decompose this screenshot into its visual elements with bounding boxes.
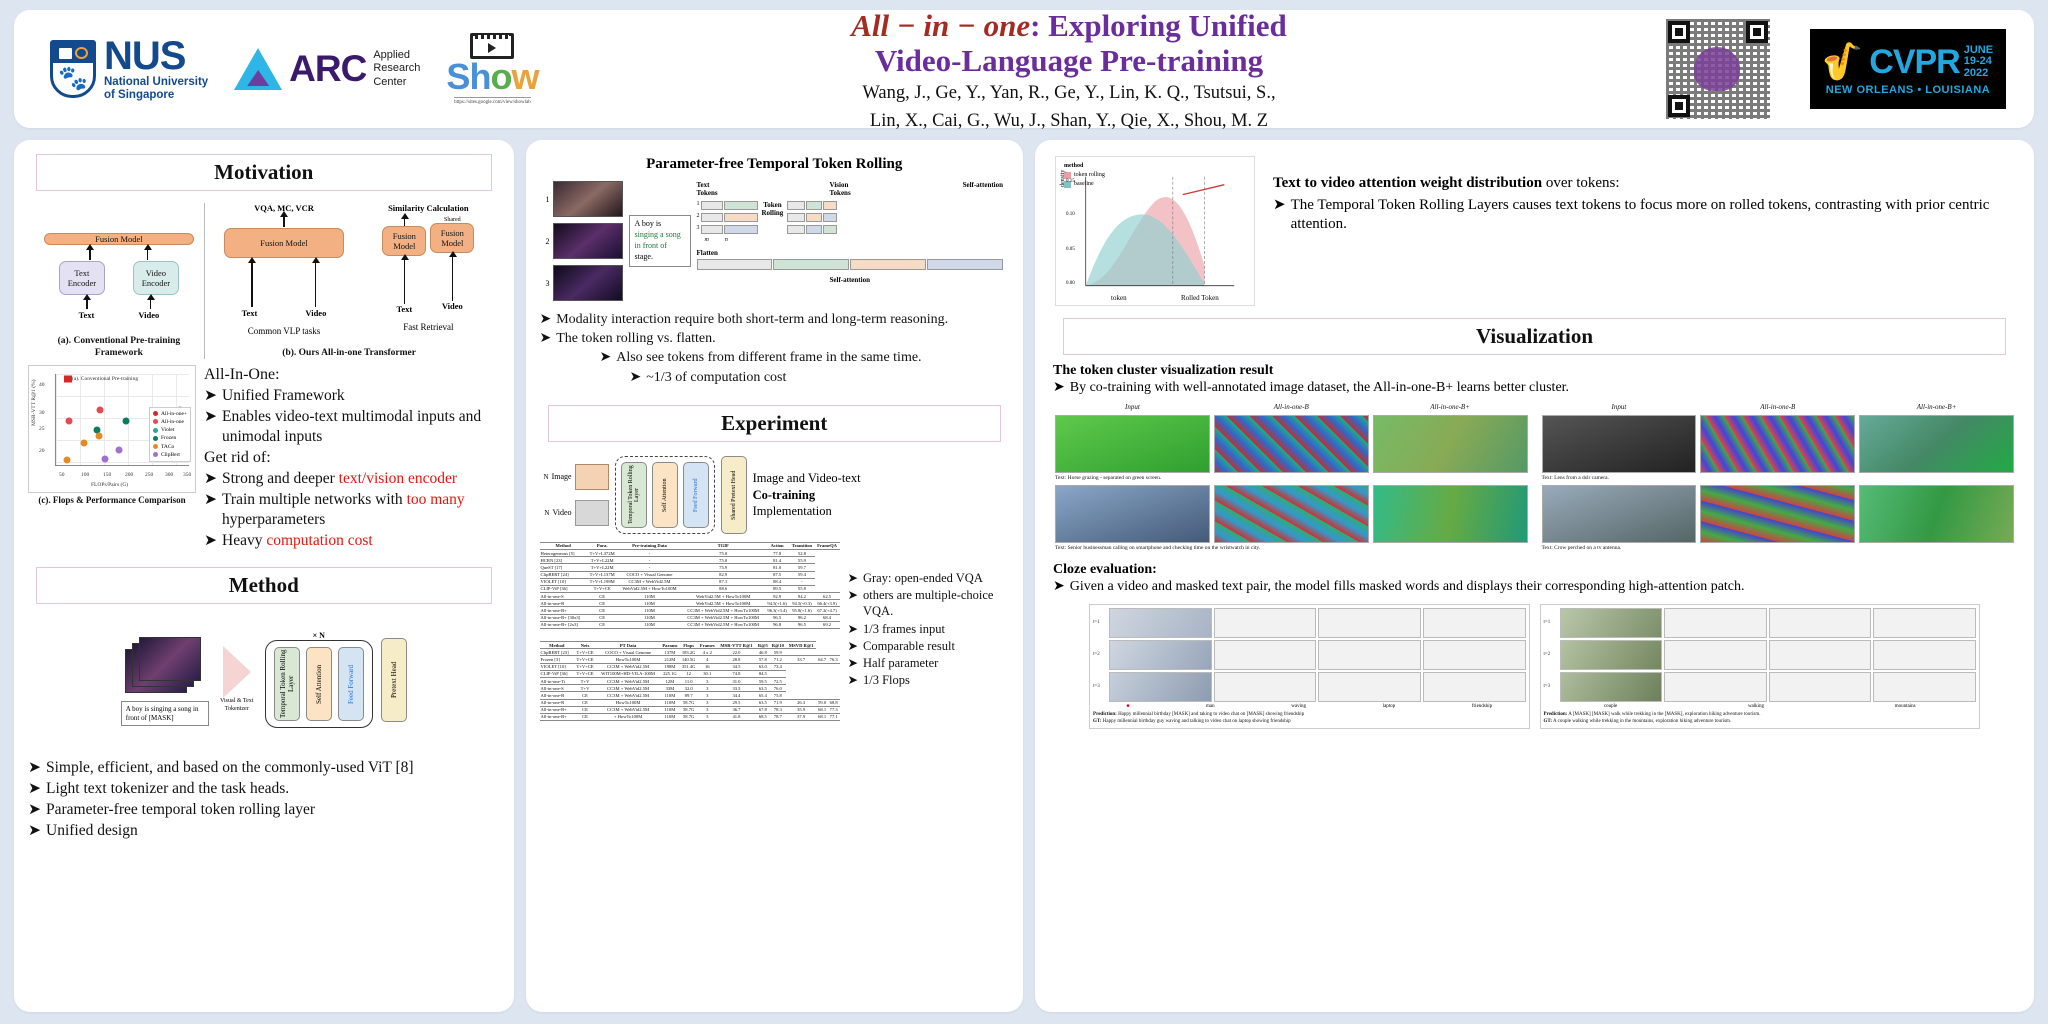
table-cell: 59.9 [770,649,786,656]
motivation-chart-and-bullets: (a). Conventional Pre-training All-in-on… [28,365,500,553]
cvpr-location: NEW ORLEANS • LOUISIANA [1826,84,1990,96]
visualization-bullet: By co-training with well-annotated image… [1070,379,1569,397]
table-cell: 75.8 [770,692,786,699]
table-cell: 77.1 [828,713,840,720]
table-cell: 87.5 [765,571,789,578]
table-row: All-in-one-BCEHowTo100M110M58.7G329.563.… [540,699,840,706]
rolling-bullet-2: The token rolling vs. flatten. [556,330,715,348]
table-cell: 58.7G [680,713,698,720]
arc-logo: ARC Applied Research Center [234,48,420,90]
t2-h2: PT Data [596,642,660,649]
fig-a-caption-1: (a). Conventional Pre-training [58,336,181,347]
table-cell: 351.4G [680,663,698,670]
t2-h0: Method [540,642,575,649]
exp-bullet-3: 1/3 frames input [863,621,945,637]
table-cell: 87.1 [681,578,765,585]
exp-self-attention: Self Attention [652,462,678,528]
column-middle: Parameter-free Temporal Token Rolling 1 … [526,140,1024,1012]
table-row: CLIP-ViP [36]T+V+CEWIT100M+HD-VILA-100M2… [540,670,840,677]
show-letter-w: w [511,56,538,97]
table-cell: CE [574,699,596,706]
exp-shared-head: Shared Pretext Head [721,456,747,534]
table-cell: T+V [574,677,596,684]
qr-code[interactable] [1666,19,1770,119]
chart-ylabel: MSR-VTT R@1 (%) [31,379,37,426]
poster-title: All − in − one: Exploring Unified [584,9,1554,44]
attention-text-block: Text to video attention weight distribut… [1273,156,2014,306]
table-cell: ClipBERT [24] [540,571,587,578]
table-row: All-in-one-SCE110MWebVid2.5M + HowTo100M… [540,593,840,600]
showlab-logo: Show https://sites.google.com/view/showl… [446,33,538,105]
cloze-left-pred-text: Happy millennial birthday [MASK] and tak… [1118,712,1304,717]
rolling-caption-end: stage. [635,252,685,263]
table-cell: - [618,564,682,571]
table-cell: 4 [698,656,717,663]
chart-caption: (c). Flops & Performance Comparison [28,495,196,506]
fig-a-caption-2: Framework [95,348,143,359]
cluster-img-r1c5 [1700,415,1855,473]
cluster-img-r2c4 [1542,485,1697,543]
table-cell: 68.1 [816,713,828,720]
cloze-right-token-3: mountains [1895,704,1916,709]
method-bullets: ➤Simple, efficient, and based on the com… [28,758,500,842]
cloze-right-pred-text: A [MASK] [MASK] walk while trekking in t… [1568,712,1760,717]
table-cell: 55.9 [789,557,814,564]
arc-sub-line2: Research [373,62,420,75]
table-cell: 4 x 2 [698,649,717,656]
table-cell: 225.1G [660,670,680,677]
t2-h8: R@10 [770,642,786,649]
table-cell: 110M [660,706,680,713]
table-cell: 58.7G [680,699,698,706]
arc-sub-line1: Applied [373,49,420,62]
section-title-experiment: Experiment [548,405,1002,442]
cloze-left-token-2: waving [1291,704,1306,709]
table-cell: Heterogeneous [5] [540,549,587,556]
point-clipbert-2 [115,447,122,454]
table-cell: VIOLET [10] [540,663,575,670]
table-cell: 89.7 [680,692,698,699]
table-cell: 62.5 [815,593,840,600]
rolling-bullet-1: Modality interaction require both short-… [556,311,948,329]
cluster-col-header-2: All-in-one-B+ [1373,403,1528,411]
token-rolling-label: Token Rolling [762,201,784,217]
table-cell: CE [574,713,596,720]
density-xlabel-left: token [1111,294,1127,302]
exp-rolling-layer: Temporal Token Rolling Layer [621,462,647,528]
experiment-tables-and-bullets: Method Para. Pre-training Data TGIF Acti… [540,542,1010,721]
flops-chart-container: (a). Conventional Pre-training All-in-on… [28,365,196,553]
poster-header: 🐾 NUS National University of Singapore A… [14,10,2034,128]
table-cell: CC3M + WebVid2.5M [596,706,660,713]
row-label-2: 2 [697,213,700,222]
t1-h3: TGIF [681,542,765,549]
table-cell: T+V+CE [574,663,596,670]
frame-index-2: 2 [546,237,550,246]
table-cell: ClipBERT [23] [540,649,575,656]
nus-name-line1: National University [104,76,208,89]
table-cell: All-in-one-Ti [540,677,575,684]
table-cell: 11.0 [680,677,698,684]
table-cell: 67.8 [756,706,770,713]
motivation-heading-2: Get rid of: [204,448,500,469]
table-cell: CE [574,706,596,713]
table-cell: 77.8 [765,549,789,556]
motivation-figure: Fusion Model Text Encoder Video Encoder … [28,199,500,359]
title-italic-part: All − in − one [851,8,1030,43]
github-cat-icon [1694,47,1740,91]
section-title-visualization: Visualization [1063,318,2006,355]
motivation-bullet-2: Enables video-text multimodal inputs and… [222,407,500,447]
table-cell: 33M [660,685,680,692]
table-cell: All-in-one-S [540,685,575,692]
t2-h4: Flops [680,642,698,649]
table-cell: 31.0 [717,677,756,684]
exp-figure-caption: Image and Video-text Co-training Impleme… [753,470,861,519]
table-cell: 82.9 [681,571,765,578]
attention-section: method token rolling baseline density [1049,152,2020,310]
table-cell: 58.7G [680,706,698,713]
visualization-bullet-row: ➤By co-training with well-annotated imag… [1049,379,2020,397]
cloze-row-label-2: t=2 [1093,652,1107,657]
fig-a-video-encoder: Video Encoder [133,261,179,295]
table-cell: 52.8 [789,549,814,556]
legend-violet: Violet [161,426,174,434]
experiment-tables: Method Para. Pre-training Data TGIF Acti… [540,542,840,721]
table-cell: 36.7 [717,706,756,713]
cloze-right-token-2: walking [1748,704,1764,709]
table-cell: 89.5 [765,585,789,592]
table-cell: 41.8 [717,713,756,720]
table-cell: QueST [17] [540,564,587,571]
point-clipbert-1 [102,455,109,462]
logo-group: 🐾 NUS National University of Singapore A… [14,33,574,105]
table-cell: 68.5 [756,713,770,720]
table-cell: 26.3 [786,699,816,706]
method-self-attention: Self Attention [306,647,332,721]
table-cell: 68.8 [828,699,840,706]
table-cell: 30.1 [698,670,717,677]
fig-a-text-label: Text [79,310,95,320]
table-row: VIOLET [10]T+V+L198MCC3M + WebVid2.5M87.… [540,578,840,585]
method-bullet-1: Simple, efficient, and based on the comm… [46,758,414,778]
cluster-img-r2c5 [1700,485,1855,543]
table-cell: All-in-one-B+ [2x3] [540,621,587,628]
chart-legend: All-in-one+ All-in-one Violet Frozen TAC… [149,407,191,463]
table-cell: All-in-one-B+ [540,713,575,720]
cloze-right-pred-label: Prediction: [1544,712,1568,717]
table-cell: 110M [618,621,682,628]
rolling-caption-box: A boy is singing a song in front of stag… [629,181,691,301]
cloze-right-gt-text: A couple walking while trekking in the m… [1553,719,1731,724]
table-cell: 94.2 [789,593,814,600]
table-cell: WebVid2.5M + HowTo100M [681,600,765,607]
table-cell: CE [587,621,618,628]
table-cell: 3 [698,706,717,713]
header-right-group: 🎷 CVPR JUNE 19-24 2022 NEW ORLEANS • LOU… [1564,19,2034,119]
table-cell: 110M [618,607,682,614]
show-letter-h: h [469,56,490,97]
t2-h1: Nets [574,642,596,649]
table-row: ClipBERT [24]T+V+L137MCOCO + Visual Geno… [540,571,840,578]
method-transformer-block: Temporal Token Rolling Layer Self Attent… [265,640,373,728]
table-cell: All-in-one-S [540,593,587,600]
table-cell: 75.9 [681,564,765,571]
t2-h5: Frames [698,642,717,649]
b4-red: too many [407,491,465,508]
table-cell: 37.9 [786,713,816,720]
cloze-heading: Cloze evaluation: [1049,562,2020,578]
legend-all-in-one-plus: All-in-one+ [161,410,187,418]
row-label-1: 1 [697,201,700,210]
show-letter-o: o [490,56,511,97]
cluster-caption-1: Text: Horse grazing - separated on green… [1055,475,1528,482]
cluster-group-right: Input All-in-one-B All-in-one-B+ Text: L… [1542,403,2015,553]
density-ytick-1: 0.05 [1066,247,1075,252]
cluster-img-r2c2 [1214,485,1369,543]
method-xn-label: × N [313,631,325,640]
table-cell: 110M [660,692,680,699]
table-cell: 74.8 [717,670,756,677]
table-cell: 63.5 [756,699,770,706]
attention-heading-rest: over tokens: [1542,175,1619,191]
table-cell: 95.8(+1.6) [789,607,814,614]
b5-pre: Heavy [222,532,266,549]
table-cell: CE [587,607,618,614]
flatten-label: Flatten [697,249,718,257]
table-row: All-in-one-BCE110MWebVid2.5M + HowTo100M… [540,600,840,607]
table-cell: 12M [660,677,680,684]
exp-caption-1: Image and Video-text [753,470,861,486]
density-ytick-3: 0.15 [1066,179,1075,184]
experiment-bullets: ➤Gray: open-ended VQA ➤others are multip… [848,542,1010,721]
motivation-bullet-4: Train multiple networks with too many hy… [222,490,500,530]
method-pretext-head: Pretext Head [381,638,407,722]
table-cell: All-in-one-B+ [540,706,575,713]
table-cell: 59.4 [789,571,814,578]
motivation-bullet-1: Unified Framework [222,386,345,406]
row-label-3: 3 [697,225,700,234]
nus-shield-icon: 🐾 [50,40,96,98]
table-cell: 34.4 [717,692,756,699]
method-bullet-3: Parameter-free temporal token rolling la… [46,800,315,820]
cloze-left-pred-label: Prediction: [1093,712,1117,717]
cloze-right-token-1: couple [1604,704,1617,709]
table-cell: T+V+L137M [587,571,618,578]
cloze-row-label-1b: t=1 [1544,620,1558,625]
density-ytick-0: 0.00 [1066,281,1075,286]
table-cell: T+V+L22M [587,564,618,571]
table-cell: T+V [574,685,596,692]
cloze-left-gt-label: GT: [1093,719,1102,724]
nus-name-line2: of Singapore [104,89,208,102]
table-row: All-in-one-B+CECC3M + WebVid2.5M110M58.7… [540,706,840,713]
table-cell: 29.5 [717,699,756,706]
table-cell: 32.0 [680,685,698,692]
cluster-caption-4: Text: Crow perched on a tv antenna. [1542,545,2015,552]
figure-b-panel: VQA, MC, VCR Fusion Model Text Video Com… [204,203,494,359]
cvpr-word: CVPR [1869,43,1959,82]
table-row: HCRN [23]T+V+L22M-75.081.455.9 [540,557,840,564]
show-letter-s: S [446,56,469,97]
table-cell: - [618,549,682,556]
table-cell: T+V+CE [574,656,596,663]
section-title-motivation: Motivation [36,154,492,191]
legend-frozen: Frozen [161,434,176,442]
table-row: All-in-one-TiT+VCC3M + WebVid2.5M12M11.0… [540,677,840,684]
exp-bullet-2: others are multiple-choice VQA. [863,587,1009,620]
exp-image-label: Image [552,472,572,481]
point-taco-1 [63,457,70,464]
table-cell: 59.7 [789,564,814,571]
fig-b-video-label-2: Video [442,301,463,311]
cvpr-badge: 🎷 CVPR JUNE 19-24 2022 NEW ORLEANS • LOU… [1810,29,2006,109]
table-cell: HCRN [23] [540,557,587,564]
table-cell: 12 [680,670,698,677]
fig-b-text-label-2: Text [396,304,412,314]
cluster-img-r2c3 [1373,485,1528,543]
table-cell: 77.3 [828,706,840,713]
show-url: https://sites.google.com/view/showlab [454,97,531,105]
table-cell: 33.7 [786,656,816,663]
t1-h1: Para. [587,542,618,549]
motivation-heading-1: All-In-One: [204,365,500,386]
legend-taco: TACo [161,443,174,451]
cluster-col-header-1: All-in-one-B [1214,403,1369,411]
attention-bullet: The Temporal Token Rolling Layers causes… [1291,196,2014,235]
rolling-caption-mid: singing a song [635,230,685,241]
table-cell: COCO + Visual Genome [596,649,660,656]
t1-h2: Pre-training Data [618,542,682,549]
column-left: Motivation Fusion Model Text Encoder Vid… [14,140,514,1012]
table-cell: WIT100M+HD-VILA-100M [596,670,660,677]
t2-h9: MSVD R@1 [786,642,816,649]
table-cell: 212M [660,656,680,663]
table-cell: CE [574,692,596,699]
exp-n-label-2: N [544,509,549,517]
table-cell: CC3M + WebVid2.5M [596,685,660,692]
table-cell: T+V+L198M [587,578,618,585]
table-cell: 110M [618,593,682,600]
table-cell: 73.4 [770,663,786,670]
saxophone-icon: 🎷 [1819,38,1869,86]
cloze-row-label-3: t=3 [1093,684,1107,689]
table-cell: CLIP-ViP [36] [540,585,587,592]
cloze-left-token-3: laptop [1383,704,1396,709]
exp-bullet-5: Half parameter [863,655,938,671]
table-header-row: Method Para. Pre-training Data TGIF Acti… [540,542,840,549]
results-table-2: Method Nets PT Data Params Flops Frames … [540,641,840,721]
exp-caption-bold: Co-training [753,487,861,503]
rolling-caption-green: in front of [635,241,685,252]
table-cell: HowTo100M [596,656,660,663]
table-cell: 3 [698,692,717,699]
fig-b-fusion-small-1: Fusion Model [382,226,426,256]
author-line-2: Lin, X., Cai, G., Wu, J., Shan, Y., Qie,… [584,110,1554,133]
point-all-in-one-bplus [64,376,72,383]
cloze-bullet: Given a video and masked text pair, the … [1070,578,1745,596]
cluster-col-header-0: Input [1055,403,1210,411]
table-row: Frozen [3]T+V+CEHowTo100M212M140.5G428.8… [540,656,840,663]
table-cell: 55.8 [789,585,814,592]
table-cell: 137M [660,649,680,656]
table-cell: + HowTo100M [596,713,660,720]
method-rolling-layer: Temporal Token Rolling Layer [274,647,300,721]
table-row: Heterogeneous [5]T+V+L372M-75.077.852.8 [540,549,840,556]
exp-bullet-4: Comparable result [863,638,955,654]
t1-h5: Transition [789,542,814,549]
table-cell: 71.2 [770,656,786,663]
table-row: All-in-one-B+ [30x3]CE110MCC3M + WebVid2… [540,614,840,621]
table-cell: CE [587,593,618,600]
b4-pre: Train multiple networks with [222,491,407,508]
table-row: CLIP-ViP [36]T+V+CEWebVid2.5M + HowTo100… [540,585,840,592]
table-cell: 110M [660,713,680,720]
t2-h7: R@5 [756,642,770,649]
cluster-img-r2c1 [1055,485,1210,543]
table-row: All-in-one-BCECC3M + WebVid2.5M110M89.73… [540,692,840,699]
table-cell: 68.4 [815,614,840,621]
fig-b-text-label: Text [242,308,258,318]
table-cell: 68.1 [816,706,828,713]
table-cell: 64.7 [816,656,828,663]
table-cell: - [618,557,682,564]
motivation-bullets: All-In-One: ➤Unified Framework ➤Enables … [204,365,500,553]
figure-a-panel: Fusion Model Text Encoder Video Encoder … [34,203,204,359]
table-cell: T+V+L22M [587,557,618,564]
table-cell: 110M [618,614,682,621]
table-cell: CC3M + WebVid2.5M + HowTo100M [681,607,765,614]
table-cell: 3 [698,713,717,720]
nus-acronym: NUS [104,36,208,76]
table-cell: CC3M + WebVid2.5M + HowTo100M [681,614,765,621]
cloze-panels: t=1 t=2 t=3 ■man waving laptop friendshi… [1049,604,2020,729]
chart-xlabel: FLOPs/Pairs (G) [91,482,128,488]
b3-red: text/vision encoder [339,470,457,487]
cloze-right-gt-label: GT: [1544,719,1553,724]
title-rest-part: : Exploring Unified [1030,8,1287,43]
method-bullet-2: Light text tokenizer and the task heads. [46,779,289,799]
table-cell: 76.3 [828,656,840,663]
table-cell: CLIP-ViP [36] [540,670,575,677]
table-cell: 76.0 [770,685,786,692]
rolling-frames-column: 1 2 3 [546,181,623,301]
cloze-panel-right: t=1 t=2 t=3 couple walking mountains Pre… [1540,604,1981,729]
cvpr-date-3: 2022 [1964,68,1993,80]
table-header-row: Method Nets PT Data Params Flops Frames … [540,642,840,649]
table-cell: All-in-one-B+ [30x3] [540,614,587,621]
rolling-schematic: Text Tokens Vision Tokens Self-attention… [697,181,1004,301]
density-ytick-2: 0.10 [1066,212,1075,217]
cluster-img-r1c6 [1859,415,2014,473]
exp-feed-forward: Feed Forward [683,462,709,528]
self-attention-top-label: Self-attention [963,181,1003,197]
table-cell: 75.0 [681,557,765,564]
table-cell: 35.9 [786,706,816,713]
table-cell: 16 [698,663,717,670]
table-cell: 75.0 [681,549,765,556]
table-row: All-in-one-B+CE+ HowTo100M110M58.7G341.8… [540,713,840,720]
method-caption-text: A boy is singing a song in front of [MAS… [121,701,209,727]
table-cell: WebVid2.5M + HowTo100M [681,593,765,600]
table-cell: All-in-one-B+ [540,607,587,614]
table-cell: All-in-one-B [540,699,575,706]
table-cell: CC3M + WebVid2.5M [596,663,660,670]
exp-n-label-1: N [544,473,549,481]
table-cell: 3 [698,699,717,706]
table-cell: 183.2G [680,649,698,656]
cloze-row-label-2b: t=2 [1544,652,1558,657]
